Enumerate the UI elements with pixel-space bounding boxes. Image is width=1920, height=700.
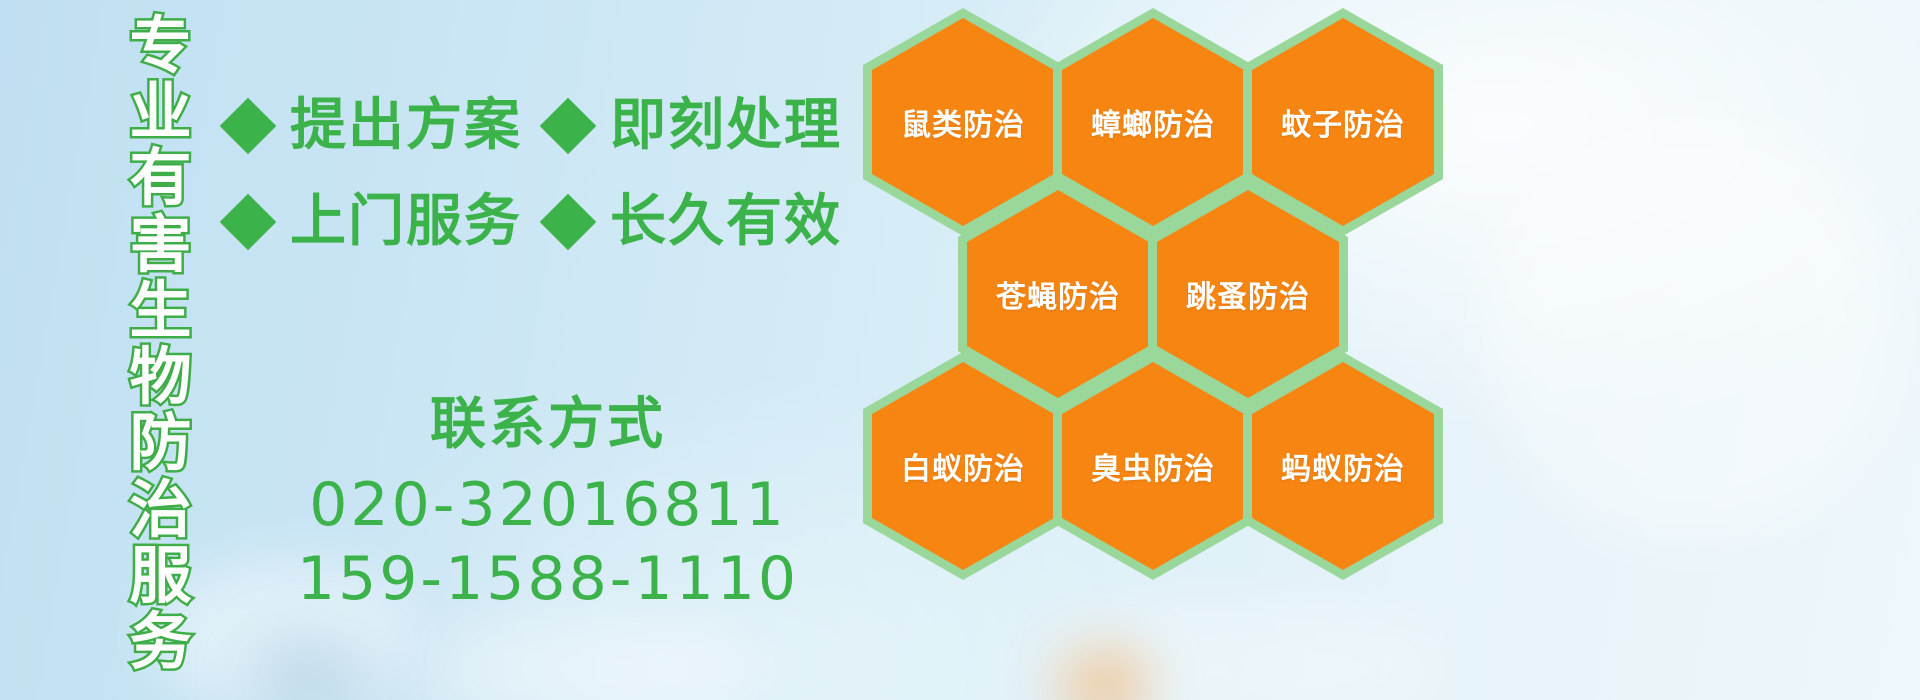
phone-number-landline[interactable]: 020-32016811 [228, 468, 868, 542]
background-blob [430, 610, 750, 700]
diamond-icon [540, 194, 597, 251]
vertical-slogan-char: 业 [129, 80, 191, 144]
feature-label: 长久有效 [610, 191, 842, 253]
service-label: 蚂蚁防治 [1281, 444, 1405, 488]
feature-item: 长久有效 [548, 191, 842, 253]
hexagon-inner: 臭虫防治 [1062, 362, 1244, 570]
service-label: 鼠类防治 [901, 100, 1025, 144]
vertical-slogan-char: 专 [129, 14, 191, 78]
service-label: 白蚁防治 [901, 444, 1025, 488]
feature-row: 上门服务 长久有效 [228, 174, 868, 270]
phone-number-mobile[interactable]: 159-1588-1110 [228, 542, 868, 616]
background-blob [1480, 120, 1900, 540]
vertical-slogan-char: 物 [129, 345, 191, 409]
background-blob [250, 640, 370, 700]
hexagon-inner: 蟑螂防治 [1062, 18, 1244, 226]
diamond-icon [220, 98, 277, 155]
diamond-icon [220, 194, 277, 251]
hexagon-inner: 蚂蚁防治 [1252, 362, 1434, 570]
diamond-icon [540, 98, 597, 155]
hexagon-inner: 蚊子防治 [1252, 18, 1434, 226]
feature-label: 上门服务 [290, 191, 522, 253]
feature-item: 上门服务 [228, 191, 522, 253]
vertical-slogan-char: 生 [129, 279, 191, 343]
promo-banner: 专 业 有 害 生 物 防 治 服 务 提出方案 即刻处理 上门服务 [0, 0, 1920, 700]
service-label: 苍蝇防治 [996, 272, 1120, 316]
feature-list: 提出方案 即刻处理 上门服务 长久有效 [228, 78, 868, 270]
hexagon-inner: 跳蚤防治 [1157, 190, 1339, 398]
service-label: 蟑螂防治 [1091, 100, 1215, 144]
vertical-slogan-char: 害 [129, 213, 191, 277]
hexagon-inner: 白蚁防治 [872, 362, 1054, 570]
feature-row: 提出方案 即刻处理 [228, 78, 868, 174]
service-label: 蚊子防治 [1281, 100, 1405, 144]
service-hexagon-grid: 鼠类防治 蟑螂防治 蚊子防治 苍蝇防治 跳蚤防治 白蚁防治 [855, 0, 1465, 700]
hexagon-inner: 苍蝇防治 [967, 190, 1149, 398]
contact-block: 联系方式 020-32016811 159-1588-1110 [228, 390, 868, 616]
vertical-slogan-char: 服 [129, 544, 191, 608]
service-label: 跳蚤防治 [1186, 272, 1310, 316]
service-label: 臭虫防治 [1091, 444, 1215, 488]
feature-item: 即刻处理 [548, 95, 842, 157]
vertical-slogan-char: 治 [129, 478, 191, 542]
contact-title: 联系方式 [228, 390, 868, 460]
vertical-slogan-char: 务 [129, 610, 191, 674]
vertical-slogan-char: 防 [129, 411, 191, 475]
hexagon-inner: 鼠类防治 [872, 18, 1054, 226]
vertical-slogan-char: 有 [129, 146, 191, 210]
feature-item: 提出方案 [228, 95, 522, 157]
feature-label: 即刻处理 [610, 95, 842, 157]
vertical-slogan: 专 业 有 害 生 物 防 治 服 务 [108, 14, 213, 674]
feature-label: 提出方案 [290, 95, 522, 157]
